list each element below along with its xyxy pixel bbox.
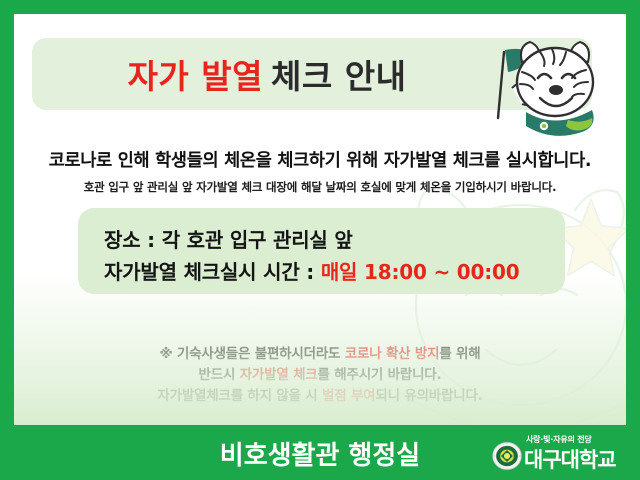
page-title: 자가 발열체크 안내 <box>32 38 502 110</box>
white-tiger-mascot-icon <box>482 26 622 146</box>
info-time-label: 자가발열 체크실시 시간 : <box>104 260 321 284</box>
notice-block: ※ 기숙사생들은 불편하시더라도 코로나 확산 방지를 위해 반드시 자가발열 … <box>14 344 626 407</box>
notice-3-highlight: 벌점 부여 <box>322 388 375 404</box>
university-emblem-icon <box>492 441 522 471</box>
info-time-line: 자가발열 체크실시 시간 : 매일 18:00 ~ 00:00 <box>104 256 519 285</box>
info-box: 장소 : 각 호관 입구 관리실 앞 자가발열 체크실시 시간 : 매일 18:… <box>78 208 565 294</box>
notice-line-2: 반드시 자가발열 체크를 해주시기 바랍니다. <box>14 365 626 386</box>
notice-3-b: 되니 유의바랍니다. <box>375 388 482 404</box>
notice-line-1: ※ 기숙사생들은 불편하시더라도 코로나 확산 방지를 위해 <box>14 344 626 365</box>
info-time-value: 매일 18:00 ~ 00:00 <box>321 260 520 284</box>
notice-2-highlight: 자가발열 체크 <box>240 367 318 383</box>
notice-2-a: 반드시 <box>199 367 240 383</box>
logo-university-name: 대구대학교 <box>524 444 616 474</box>
notice-3-a: 자가발열체크를 하지 않을 시 <box>157 388 322 404</box>
notice-2-b: 를 해주시기 바랍니다. <box>318 367 442 383</box>
poster-canvas: 자가 발열체크 안내 <box>14 14 626 425</box>
headline-text: 코로나로 인해 학생들의 체온을 체크하기 위해 자가발열 체크를 실시합니다. <box>14 147 626 172</box>
university-logo: 사랑·빛·자유의 전당 대구대학교 <box>492 433 632 473</box>
poster-root: 자가 발열체크 안내 <box>0 0 640 480</box>
notice-line-3: 자가발열체크를 하지 않을 시 벌점 부여되니 유의바랍니다. <box>14 386 626 407</box>
subheadline-text: 호관 입구 앞 관리실 앞 자가발열 체크 대장에 해달 날짜의 호실에 맞게 … <box>14 179 626 195</box>
footer-bar: 비호생활관 행정실 사랑·빛·자유의 전당 대구대학교 <box>0 425 640 480</box>
info-location-line: 장소 : 각 호관 입구 관리실 앞 <box>104 224 353 253</box>
notice-1-highlight: 코로나 확산 방지 <box>345 346 440 362</box>
notice-1-a: ※ 기숙사생들은 불편하시더라도 <box>159 346 344 362</box>
title-highlight: 자가 발열 <box>128 50 263 98</box>
title-rest: 체크 안내 <box>271 50 406 98</box>
notice-1-b: 를 위해 <box>439 346 480 362</box>
